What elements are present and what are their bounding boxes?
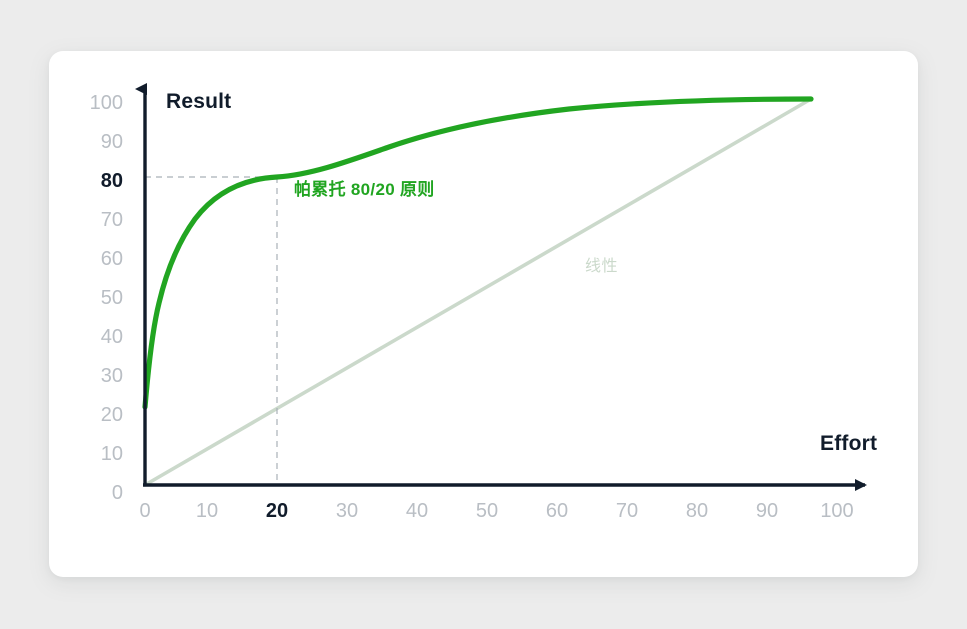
- y-axis-title: Result: [166, 90, 231, 114]
- y-tick-30: 30: [75, 365, 123, 388]
- series-linear: [145, 99, 811, 485]
- pareto-series-label: 帕累托 80/20 原则: [294, 175, 435, 200]
- chart-area: Result Effort 100 90 80 70 60 50 40 30 2…: [49, 51, 918, 577]
- y-tick-90: 90: [75, 131, 123, 154]
- x-tick-80: 80: [670, 500, 724, 523]
- x-tick-40: 40: [390, 500, 444, 523]
- chart-plot-svg: [49, 51, 918, 577]
- x-tick-60: 60: [530, 500, 584, 523]
- x-tick-20: 20: [250, 500, 304, 523]
- x-tick-50: 50: [460, 500, 514, 523]
- x-tick-10: 10: [180, 500, 234, 523]
- y-tick-100: 100: [75, 92, 123, 115]
- x-tick-30: 30: [320, 500, 374, 523]
- y-tick-50: 50: [75, 287, 123, 310]
- y-tick-10: 10: [75, 443, 123, 466]
- x-tick-100: 100: [810, 500, 864, 523]
- y-tick-70: 70: [75, 209, 123, 232]
- x-axis-title: Effort: [820, 432, 877, 456]
- y-tick-20: 20: [75, 404, 123, 427]
- linear-series-label: 线性: [585, 252, 618, 276]
- y-tick-60: 60: [75, 248, 123, 271]
- y-tick-40: 40: [75, 326, 123, 349]
- chart-card: Result Effort 100 90 80 70 60 50 40 30 2…: [49, 51, 918, 577]
- x-tick-90: 90: [740, 500, 794, 523]
- x-tick-70: 70: [600, 500, 654, 523]
- y-tick-80: 80: [75, 170, 123, 193]
- x-tick-0: 0: [118, 500, 172, 523]
- y-tick-0: 0: [75, 482, 123, 505]
- series-pareto: [145, 99, 811, 407]
- page-root: Result Effort 100 90 80 70 60 50 40 30 2…: [0, 0, 967, 629]
